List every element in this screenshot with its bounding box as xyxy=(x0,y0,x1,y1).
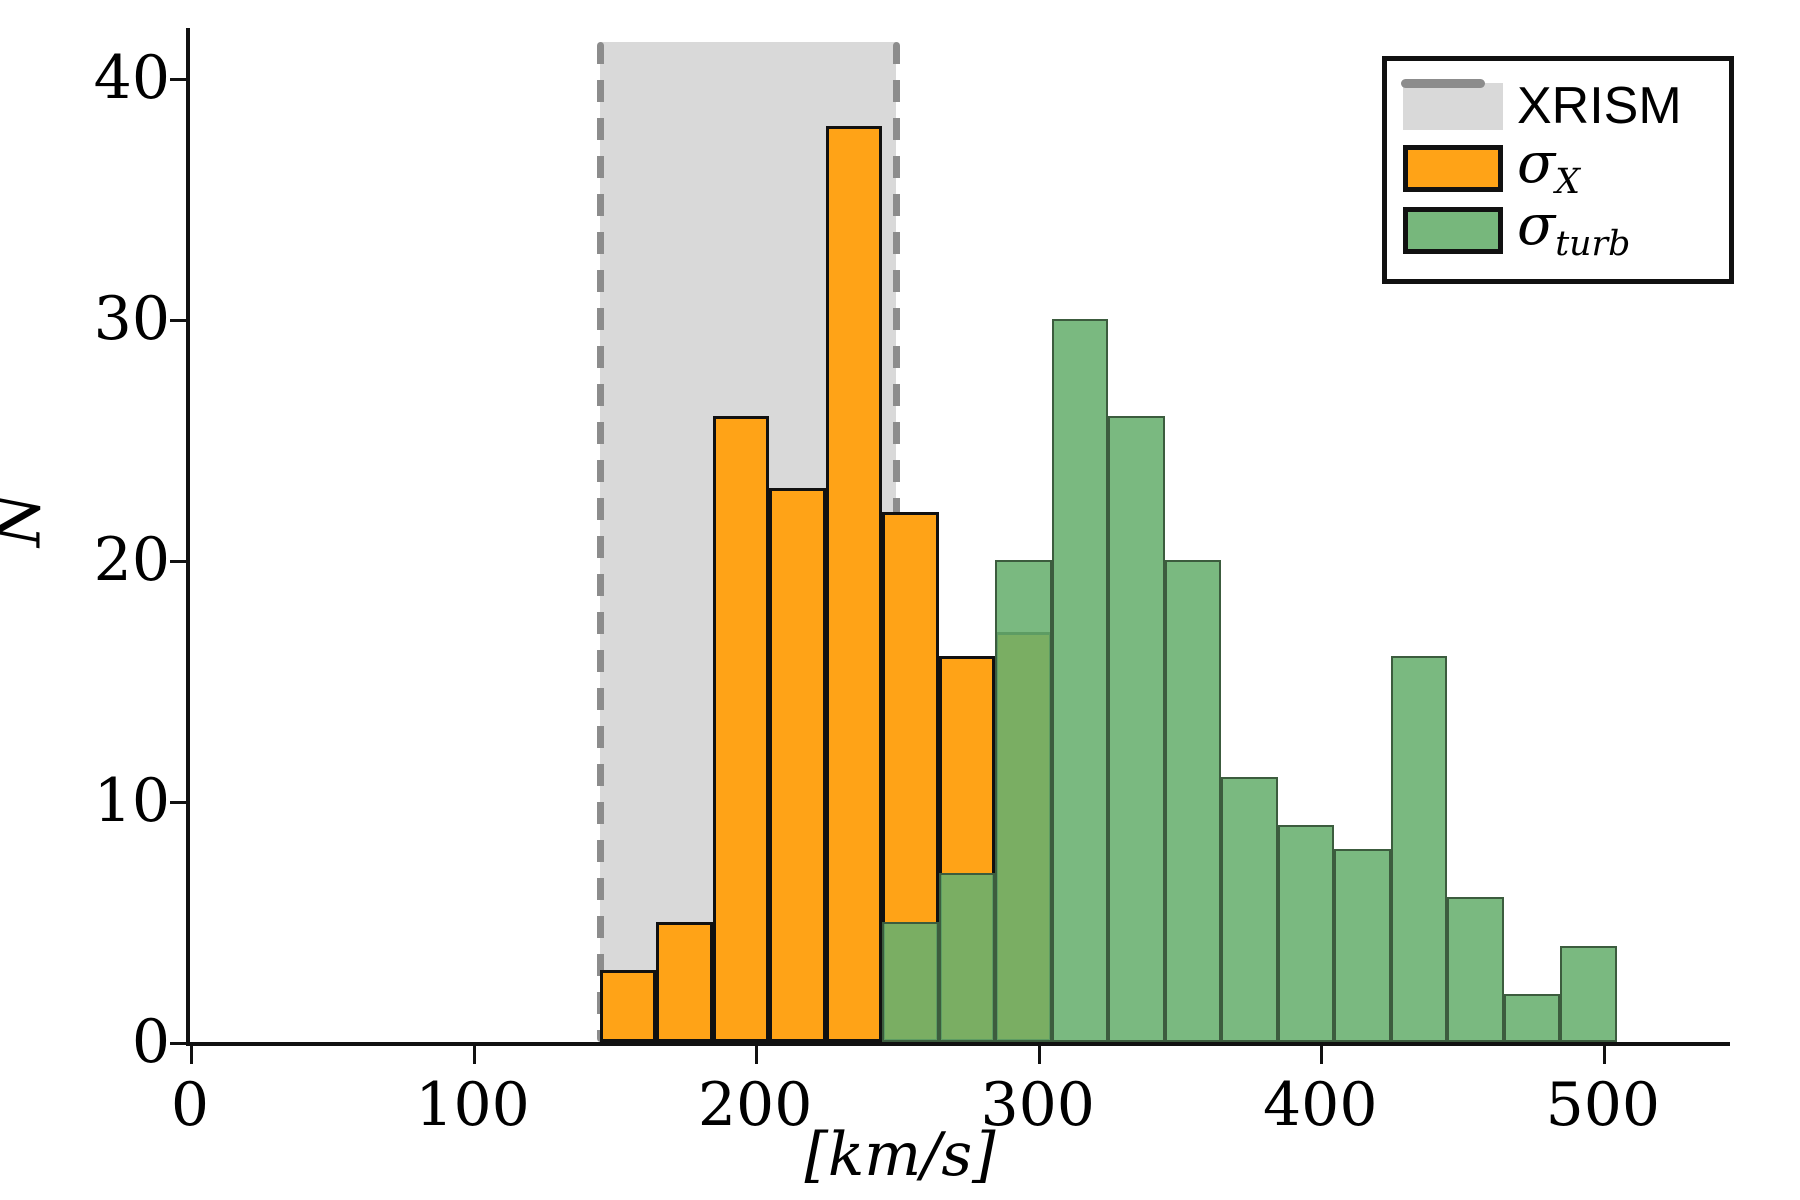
y-tick xyxy=(170,1042,188,1045)
x-tick-label: 300 xyxy=(980,1070,1095,1140)
y-axis-label: N xyxy=(0,493,55,547)
x-tick-label: 100 xyxy=(415,1070,530,1140)
bar-sigma-turb xyxy=(939,873,996,1042)
x-tick xyxy=(473,1046,476,1064)
y-tick-label: 20 xyxy=(70,530,170,590)
bar-sigma-turb xyxy=(882,922,939,1042)
y-tick xyxy=(170,319,188,322)
legend-item-sigma-x: σX xyxy=(1403,137,1713,199)
x-tick-label: 0 xyxy=(171,1070,209,1140)
y-tick xyxy=(170,560,188,563)
legend-swatch-xrism xyxy=(1403,83,1503,130)
bar-sigma-x xyxy=(600,970,657,1042)
bar-sigma-turb xyxy=(1560,946,1617,1042)
chart-figure: N [km/s] 010203040 0100200300400500 XRIS… xyxy=(0,0,1800,1200)
bar-sigma-x xyxy=(826,126,883,1042)
x-tick xyxy=(1038,1046,1041,1064)
x-tick xyxy=(755,1046,758,1064)
legend-line-xrism xyxy=(1401,79,1485,88)
xrism-region-edge-left xyxy=(597,42,604,1042)
bar-sigma-turb xyxy=(1391,656,1448,1042)
legend-swatch-sigma-x xyxy=(1403,145,1503,192)
legend-label-sigma-x: σX xyxy=(1517,136,1580,200)
bar-sigma-turb xyxy=(1504,994,1561,1042)
bar-sigma-turb xyxy=(1447,897,1504,1042)
legend: XRISM σX σturb xyxy=(1382,56,1734,284)
legend-item-sigma-turb: σturb xyxy=(1403,199,1713,261)
y-tick-label: 0 xyxy=(70,1012,170,1072)
y-tick xyxy=(170,801,188,804)
y-tick xyxy=(170,78,188,81)
bar-sigma-x xyxy=(769,488,826,1042)
x-tick-label: 400 xyxy=(1263,1070,1378,1140)
x-axis-spine xyxy=(186,1042,1730,1046)
y-tick-label: 30 xyxy=(70,289,170,349)
bar-sigma-turb xyxy=(995,560,1052,1042)
bar-sigma-turb xyxy=(1165,560,1222,1042)
bar-sigma-turb xyxy=(1108,416,1165,1043)
bar-sigma-x xyxy=(656,922,713,1042)
y-tick-label: 40 xyxy=(70,48,170,108)
x-tick-label: 500 xyxy=(1546,1070,1661,1140)
x-axis-label: [km/s] xyxy=(804,1120,995,1190)
y-tick-label: 10 xyxy=(70,771,170,831)
x-tick xyxy=(1603,1046,1606,1064)
x-tick xyxy=(1320,1046,1323,1064)
bar-sigma-turb xyxy=(1221,777,1278,1042)
bar-sigma-x xyxy=(713,416,770,1043)
legend-label-sigma-turb: σturb xyxy=(1517,198,1630,262)
bar-sigma-turb xyxy=(1052,319,1109,1042)
x-tick-label: 200 xyxy=(698,1070,813,1140)
x-tick xyxy=(190,1046,193,1064)
legend-label-xrism: XRISM xyxy=(1517,80,1682,132)
bar-sigma-turb xyxy=(1278,825,1335,1042)
bar-sigma-turb xyxy=(1334,849,1391,1042)
legend-item-xrism: XRISM xyxy=(1403,75,1713,137)
legend-swatch-sigma-turb xyxy=(1403,207,1503,254)
